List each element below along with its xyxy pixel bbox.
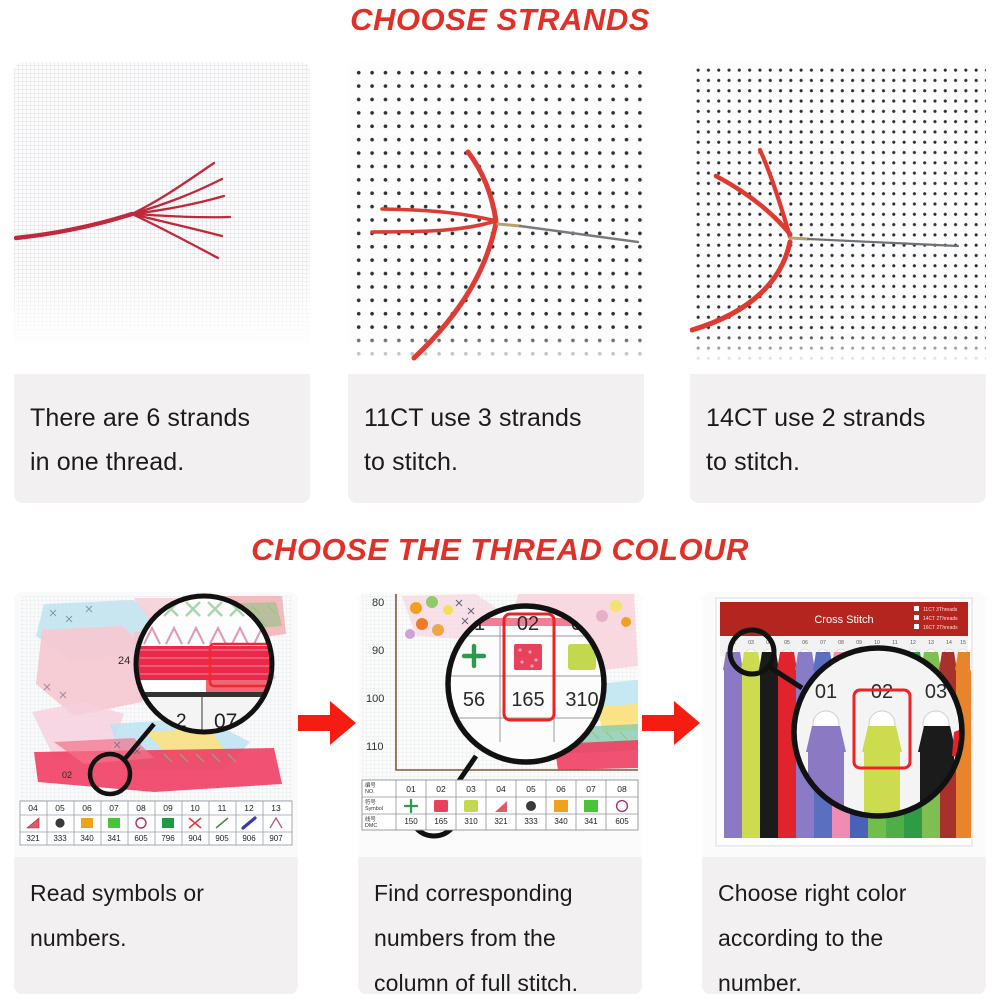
caption-line: 14CT use 2 strands [706, 396, 970, 440]
legend-table: 编号NO. 符号Symbol 线号DMC 0102 0304 0506 0708 [362, 780, 638, 830]
card-14ct: 14CT use 2 strands to stitch. [690, 62, 986, 503]
svg-text:10: 10 [190, 803, 200, 813]
svg-text:12: 12 [910, 640, 916, 646]
svg-text:06: 06 [556, 784, 566, 794]
caption-line: to stitch. [706, 440, 970, 484]
svg-text:04: 04 [496, 784, 506, 794]
legend-table: 0405 0607 0809 1011 1213 [20, 801, 292, 845]
svg-text:333: 333 [524, 817, 538, 826]
svg-text:05: 05 [784, 640, 790, 646]
svg-text:08: 08 [617, 784, 627, 794]
svg-text:13: 13 [271, 803, 281, 813]
svg-text:11: 11 [892, 640, 897, 646]
caption-line: There are 6 strands [30, 396, 294, 440]
svg-text:100: 100 [366, 693, 384, 705]
svg-text:150: 150 [404, 817, 418, 826]
svg-text:NO.: NO. [365, 789, 375, 795]
svg-text:07: 07 [109, 803, 119, 813]
card-choose-color: Cross Stitch 11CT 3Threads 14CT 2Threads… [702, 592, 986, 994]
six-strand-thread-illustration [14, 62, 310, 374]
photo-thread-card: Cross Stitch 11CT 3Threads 14CT 2Threads… [702, 592, 986, 857]
svg-text:05: 05 [526, 784, 536, 794]
section-title-choose-strands: CHOOSE STRANDS [0, 2, 1000, 38]
svg-text:310: 310 [464, 817, 478, 826]
svg-text:11CT 3Threads: 11CT 3Threads [923, 607, 958, 613]
caption-line: 11CT use 3 strands [364, 396, 628, 440]
svg-text:03: 03 [748, 640, 754, 646]
svg-text:08: 08 [838, 640, 844, 646]
svg-text:04: 04 [28, 803, 38, 813]
svg-text:06: 06 [82, 803, 92, 813]
svg-text:310: 310 [565, 689, 598, 711]
svg-text:02: 02 [871, 681, 893, 703]
svg-text:DMC: DMC [365, 823, 377, 829]
svg-text:编号: 编号 [365, 781, 376, 789]
caption-line: according to the [718, 916, 970, 961]
caption-line: numbers from the [374, 916, 626, 961]
svg-text:321: 321 [494, 817, 508, 826]
svg-text:165: 165 [511, 689, 544, 711]
photo-six-strands [14, 62, 310, 374]
caption-line: to stitch. [364, 440, 628, 484]
arrow-step-1-to-2-icon [296, 698, 358, 748]
magnifier-dmc-numbers: 56 165 310 [463, 689, 599, 711]
svg-text:14: 14 [946, 640, 952, 646]
svg-text:605: 605 [134, 834, 148, 843]
two-strand-thread-and-needle-illustration [690, 62, 986, 374]
card-read-symbols: 24 02 [14, 592, 298, 994]
instruction-sheet: CHOOSE STRANDS There are 6 strands in on… [0, 0, 1000, 1000]
caption-14ct: 14CT use 2 strands to stitch. [690, 374, 986, 503]
card-11ct: 11CT use 3 strands to stitch. [348, 62, 644, 503]
svg-text:15: 15 [960, 640, 966, 646]
photo-full-stitch-column: 80 90 100 110 [358, 592, 642, 857]
caption-line: numbers. [30, 916, 282, 961]
svg-text:80: 80 [372, 597, 384, 609]
svg-text:110: 110 [366, 741, 384, 753]
svg-text:605: 605 [615, 817, 629, 826]
svg-text:12: 12 [244, 803, 254, 813]
chart-number-02: 02 [62, 770, 72, 780]
svg-text:06: 06 [802, 640, 808, 646]
card-six-strands: There are 6 strands in one thread. [14, 62, 310, 503]
caption-line: column of full stitch. [374, 961, 626, 994]
svg-text:10: 10 [874, 640, 880, 646]
caption-six-strands: There are 6 strands in one thread. [14, 374, 310, 503]
svg-text:907: 907 [269, 834, 283, 843]
caption-choose-color: Choose right color according to the numb… [702, 857, 986, 994]
svg-text:01: 01 [815, 681, 837, 703]
arrow-step-2-to-3-icon [640, 698, 702, 748]
svg-text:90: 90 [372, 645, 384, 657]
caption-read-symbols: Read symbols or numbers. [14, 857, 298, 994]
svg-text:333: 333 [53, 834, 67, 843]
svg-text:03: 03 [466, 784, 476, 794]
svg-text:02: 02 [436, 784, 446, 794]
floss-organizer-card-illustration: Cross Stitch 11CT 3Threads 14CT 2Threads… [702, 592, 986, 857]
svg-text:Symbol: Symbol [365, 806, 383, 812]
section-title-choose-thread-colour: CHOOSE THE THREAD COLOUR [0, 532, 1000, 568]
svg-text:线号: 线号 [365, 815, 376, 823]
caption-line: Find corresponding [374, 871, 626, 916]
svg-text:07: 07 [586, 784, 596, 794]
svg-text:341: 341 [584, 817, 598, 826]
svg-text:09: 09 [856, 640, 862, 646]
magnifier-skein-numbers: 01 02 03 [815, 681, 947, 703]
chart-number-24: 24 [118, 655, 130, 667]
svg-text:02: 02 [517, 613, 539, 635]
caption-find-numbers: Find corresponding numbers from the colu… [358, 857, 642, 994]
svg-text:07: 07 [820, 640, 826, 646]
svg-text:16CT 2Threads: 16CT 2Threads [923, 625, 958, 631]
three-strand-thread-and-needle-illustration [348, 62, 644, 374]
svg-text:906: 906 [242, 834, 256, 843]
pattern-chart-with-column-illustration: 80 90 100 110 [358, 592, 642, 857]
cross-stitch-pattern-chart-illustration: 24 02 [14, 592, 298, 857]
svg-text:14CT 2Threads: 14CT 2Threads [923, 616, 958, 622]
caption-line: in one thread. [30, 440, 294, 484]
svg-text:01: 01 [406, 784, 416, 794]
photo-pattern-chart: 24 02 [14, 592, 298, 857]
svg-text:符号: 符号 [365, 798, 376, 806]
svg-text:340: 340 [80, 834, 94, 843]
card-find-numbers: 80 90 100 110 [358, 592, 642, 994]
svg-text:08: 08 [136, 803, 146, 813]
photo-14ct-stitching [690, 62, 986, 374]
svg-text:09: 09 [163, 803, 173, 813]
svg-text:796: 796 [161, 834, 175, 843]
caption-line: Read symbols or [30, 871, 282, 916]
svg-text:13: 13 [928, 640, 934, 646]
svg-text:05: 05 [55, 803, 65, 813]
svg-text:165: 165 [434, 817, 448, 826]
caption-line: Choose right color [718, 871, 970, 916]
photo-11ct-stitching [348, 62, 644, 374]
svg-text:904: 904 [188, 834, 202, 843]
caption-line: number. [718, 961, 970, 994]
svg-text:905: 905 [215, 834, 229, 843]
svg-text:340: 340 [554, 817, 568, 826]
caption-11ct: 11CT use 3 strands to stitch. [348, 374, 644, 503]
svg-text:341: 341 [107, 834, 121, 843]
svg-text:56: 56 [463, 689, 485, 711]
svg-text:11: 11 [218, 803, 227, 813]
svg-text:321: 321 [26, 834, 40, 843]
banner-title: Cross Stitch [814, 614, 873, 626]
